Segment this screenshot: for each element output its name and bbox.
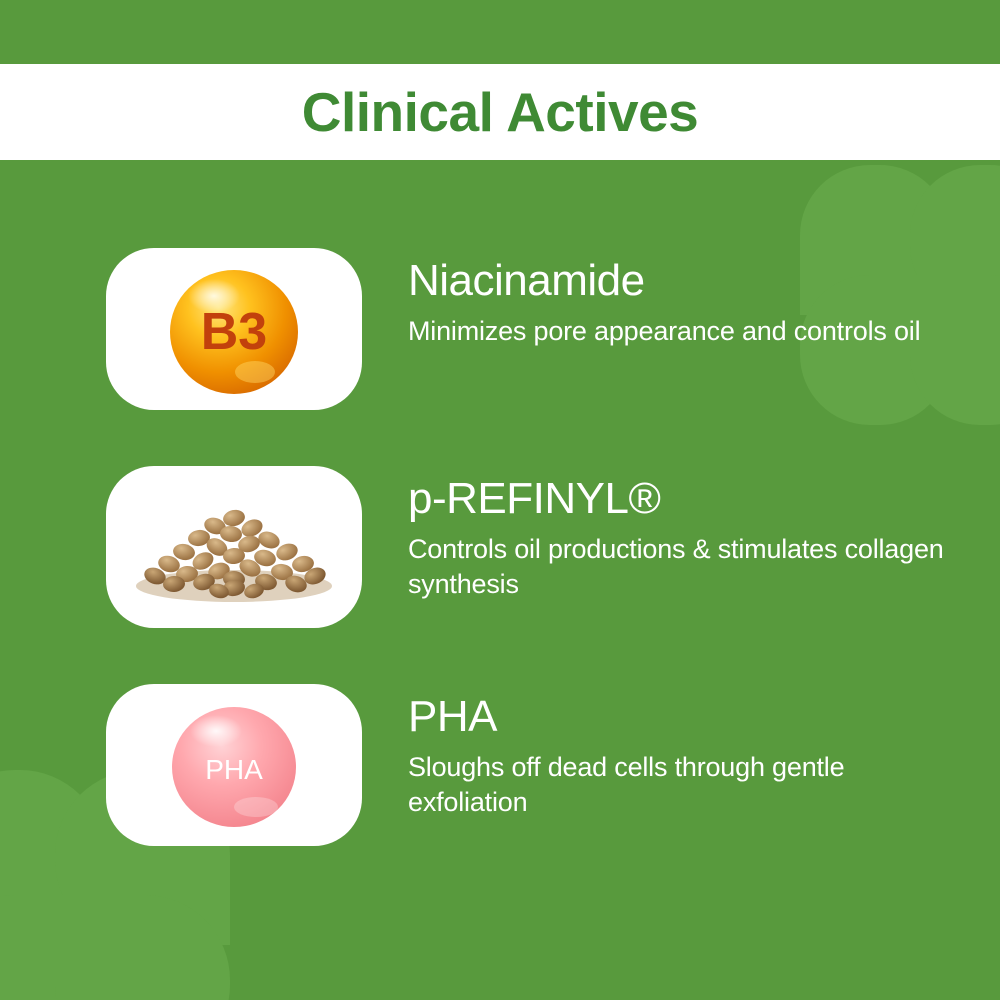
lentil-seeds-pile-icon (119, 482, 349, 612)
active-description: Sloughs off dead cells through gentle ex… (408, 750, 948, 819)
list-item: p-REFINYL® Controls oil productions & st… (0, 466, 1000, 628)
active-description: Minimizes pore appearance and controls o… (408, 314, 920, 349)
active-name: Niacinamide (408, 258, 920, 304)
icon-card-pha: PHA (106, 684, 362, 846)
icon-card-prefinyl (106, 466, 362, 628)
header-band: Clinical Actives (0, 64, 1000, 160)
row-text-pha: PHA Sloughs off dead cells through gentl… (408, 684, 948, 819)
page-title: Clinical Actives (302, 85, 699, 140)
pha-pink-sphere-icon: PHA (164, 695, 304, 835)
row-text-niacinamide: Niacinamide Minimizes pore appearance an… (408, 248, 920, 349)
list-item: PHA PHA Sloughs off dead cells through g… (0, 684, 1000, 846)
active-name: PHA (408, 694, 948, 740)
row-text-prefinyl: p-REFINYL® Controls oil productions & st… (408, 466, 948, 601)
vitamin-b3-capsule-icon: B3 (159, 254, 309, 404)
list-item: B3 Niacinamide Minimizes pore appearance… (0, 248, 1000, 410)
icon-card-niacinamide: B3 (106, 248, 362, 410)
active-description: Controls oil productions & stimulates co… (408, 532, 948, 601)
clinical-actives-infographic: Clinical Actives (0, 0, 1000, 1000)
actives-list: B3 Niacinamide Minimizes pore appearance… (0, 248, 1000, 902)
active-name: p-REFINYL® (408, 476, 948, 522)
svg-text:B3: B3 (201, 303, 267, 361)
svg-text:PHA: PHA (205, 754, 263, 785)
